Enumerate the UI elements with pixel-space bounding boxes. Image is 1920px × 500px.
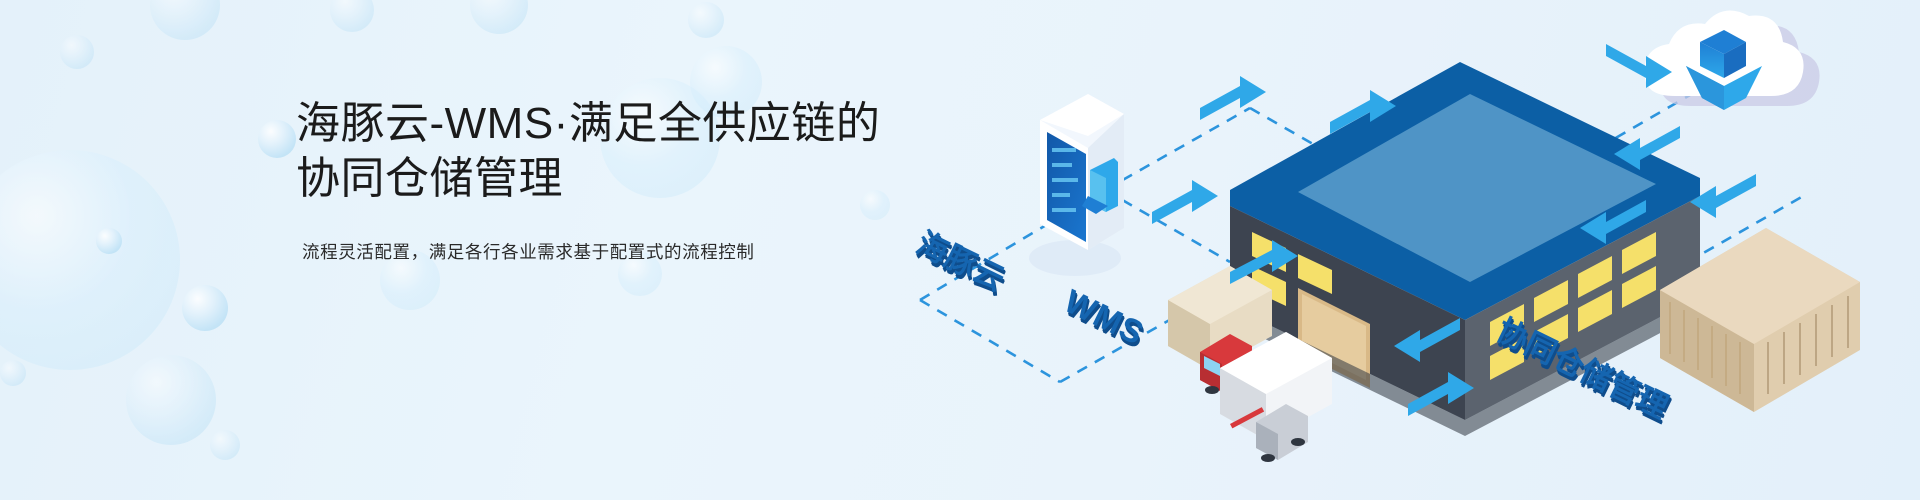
bubble-icon	[126, 355, 216, 445]
bubble-icon	[96, 228, 122, 254]
page-title: 海豚云-WMS·满足全供应链的 协同仓储管理	[296, 96, 996, 207]
bubble-icon	[0, 360, 26, 386]
bubble-icon	[182, 285, 228, 331]
page-subtitle: 流程灵活配置，满足各行各业需求基于配置式的流程控制	[302, 239, 996, 264]
bubble-icon	[470, 0, 528, 34]
illustration-canvas	[900, 0, 1920, 500]
hero-text-block: 海豚云-WMS·满足全供应链的 协同仓储管理 流程灵活配置，满足各行各业需求基于…	[296, 96, 996, 264]
bubble-icon	[60, 35, 94, 69]
server-rack-icon	[1029, 94, 1124, 276]
bubble-icon	[330, 0, 374, 32]
bubble-icon	[210, 430, 240, 460]
cloud-download-icon	[1645, 11, 1820, 110]
bubble-icon	[688, 2, 724, 38]
bubble-icon	[150, 0, 220, 40]
hero-banner: 海豚云-WMS·满足全供应链的 协同仓储管理 流程灵活配置，满足各行各业需求基于…	[0, 0, 1920, 500]
bubble-icon	[258, 120, 296, 158]
bubble-icon	[0, 150, 180, 370]
warehouse-illustration: 海豚云 WMS 协同仓储管理	[900, 0, 1920, 500]
